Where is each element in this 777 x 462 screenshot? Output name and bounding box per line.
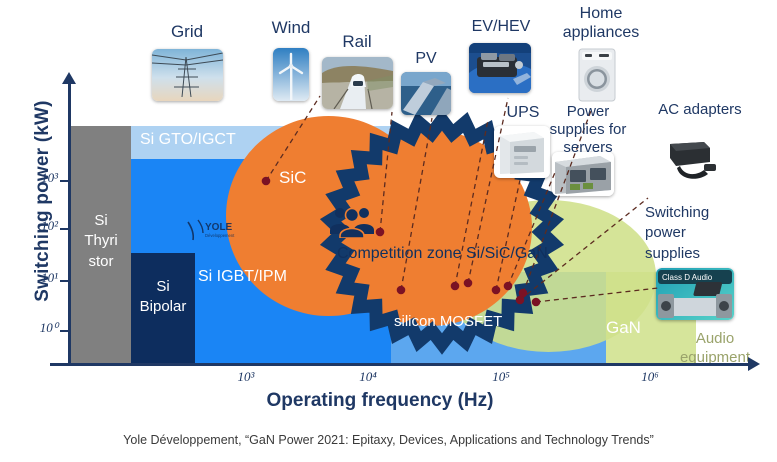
region-label-sic: SiC	[279, 168, 306, 188]
callout-power-supplies-servers: Power supplies for servers	[541, 103, 635, 157]
region-label-si-thyristor-line1: Si	[94, 212, 107, 229]
callout-ev-hev: EV/HEV	[456, 17, 546, 36]
region-label-competition-zone: Competition zone Si/SiC/GaN	[337, 245, 548, 263]
region-label-si-thyristor-line3: stor	[88, 253, 113, 270]
callout-sps-line3: supplies	[645, 245, 700, 262]
callout-psu-line3: servers	[563, 139, 612, 156]
callout-sps-line1: Switching	[645, 204, 709, 221]
chart-canvas: Class D Audio YOLE Développement	[0, 0, 777, 462]
region-label-si-bipolar: Si Bipolar	[139, 277, 187, 318]
thumbnail-audio-caption: Class D Audio	[662, 273, 713, 282]
x-axis-label: Operating frequency (Hz)	[230, 390, 530, 412]
callout-psu-line1: Power	[567, 103, 610, 120]
region-label-gan: GaN	[606, 318, 641, 338]
callout-home-line2: appliances	[563, 24, 640, 41]
region-label-si-gto-igct: Si GTO/IGCT	[140, 131, 236, 149]
thumbnail-rail	[322, 57, 393, 109]
y-tick-mark-1000	[60, 180, 70, 182]
callout-rail: Rail	[317, 32, 397, 52]
callout-sps-line2: power	[645, 224, 686, 241]
y-tick-mark-100	[60, 228, 70, 230]
thumbnail-pv	[401, 72, 451, 115]
x-tick-label-1e5: 10⁵	[481, 369, 521, 385]
figure-caption: Yole Développement, “GaN Power 2021: Epi…	[0, 433, 777, 447]
y-tick-mark-1	[60, 330, 70, 332]
region-label-si-thyristor: Si Thyri stor	[76, 211, 126, 272]
callout-home-line1: Home	[580, 5, 623, 22]
thumbnail-server-psu	[552, 152, 614, 196]
x-tick-label-1e4: 10⁴	[348, 369, 388, 385]
region-label-si-igbt-ipm: Si IGBT/IPM	[198, 268, 287, 286]
callout-ac-adapters: AC adapters	[645, 101, 755, 119]
thumbnail-grid	[152, 49, 223, 101]
thumbnail-ev-hev	[469, 43, 531, 93]
y-axis-arrow	[62, 72, 76, 84]
region-label-audio-line1: Audio	[696, 330, 734, 347]
x-axis-line	[50, 363, 750, 366]
watermark-sub: Développement	[205, 233, 235, 238]
y-tick-mark-10	[60, 280, 70, 282]
x-tick-label-1e6: 10⁶	[630, 369, 670, 385]
region-label-si-thyristor-line2: Thyri	[84, 232, 117, 249]
y-tick-label-1: 10⁰	[24, 320, 58, 336]
callout-home-appliances: Home appliances	[556, 4, 646, 42]
y-axis-label: Switching power (kW)	[32, 86, 54, 316]
callout-grid: Grid	[147, 22, 227, 42]
yole-watermark: YOLE Développement	[186, 216, 252, 242]
thumbnail-ac-adapter	[660, 138, 722, 180]
y-axis-line	[68, 84, 71, 364]
thumbnail-home-appliance	[573, 45, 621, 103]
x-axis-arrow	[748, 357, 760, 371]
x-tick-label-1e3: 10³	[226, 369, 266, 385]
people-group-icon	[329, 204, 375, 238]
callout-switching-power-supplies: Switching power supplies	[645, 203, 745, 264]
region-label-si-bipolar-line2: Bipolar	[140, 298, 187, 315]
region-label-silicon-mosfet: silicon MOSFET	[394, 313, 502, 330]
callout-pv: PV	[396, 49, 456, 68]
thumbnail-wind	[273, 48, 309, 101]
thumbnail-class-d-audio: Class D Audio	[656, 268, 734, 320]
callout-psu-line2: supplies for	[550, 121, 627, 138]
watermark-brand: YOLE	[205, 222, 233, 233]
region-label-si-bipolar-line1: Si	[156, 278, 169, 295]
